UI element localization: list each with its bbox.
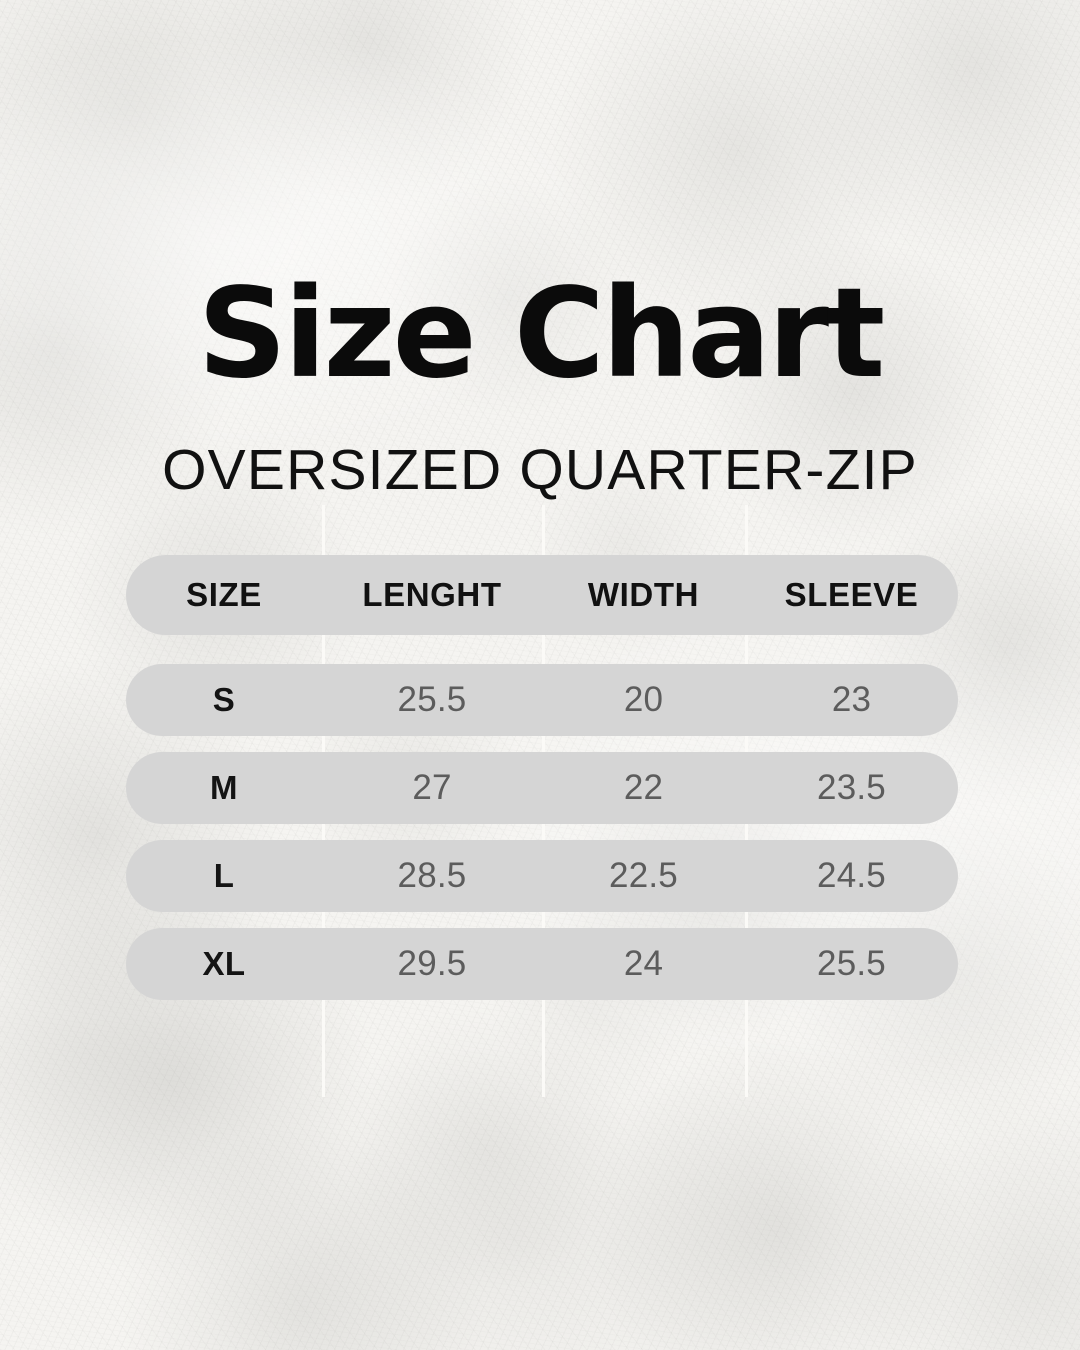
- cell-sleeve: 24.5: [745, 856, 958, 896]
- cell-width: 22: [542, 768, 745, 808]
- size-chart-page: Size Chart OVERSIZED QUARTER-ZIP SIZE LE…: [0, 0, 1080, 1350]
- cell-size: XL: [126, 945, 322, 983]
- table-header-row: SIZE LENGHT WIDTH SLEEVE: [126, 555, 958, 635]
- column-header-sleeve: SLEEVE: [745, 576, 958, 614]
- page-subtitle: OVERSIZED QUARTER-ZIP: [0, 440, 1080, 500]
- cell-size: L: [126, 857, 322, 895]
- size-table: SIZE LENGHT WIDTH SLEEVE S 25.5 20 23 M …: [126, 555, 958, 1000]
- table-row: L 28.5 22.5 24.5: [126, 840, 958, 912]
- column-header-size: SIZE: [126, 576, 322, 614]
- cell-width: 20: [542, 680, 745, 720]
- cell-sleeve: 25.5: [745, 944, 958, 984]
- table-row: XL 29.5 24 25.5: [126, 928, 958, 1000]
- cell-size: M: [126, 769, 322, 807]
- cell-sleeve: 23: [745, 680, 958, 720]
- table-row: M 27 22 23.5: [126, 752, 958, 824]
- table-row: S 25.5 20 23: [126, 664, 958, 736]
- column-header-length: LENGHT: [322, 576, 542, 614]
- page-title: Size Chart: [0, 272, 1080, 396]
- cell-length: 29.5: [322, 944, 542, 984]
- cell-size: S: [126, 681, 322, 719]
- cell-sleeve: 23.5: [745, 768, 958, 808]
- cell-width: 24: [542, 944, 745, 984]
- cell-length: 27: [322, 768, 542, 808]
- column-header-width: WIDTH: [542, 576, 745, 614]
- cell-length: 25.5: [322, 680, 542, 720]
- cell-length: 28.5: [322, 856, 542, 896]
- cell-width: 22.5: [542, 856, 745, 896]
